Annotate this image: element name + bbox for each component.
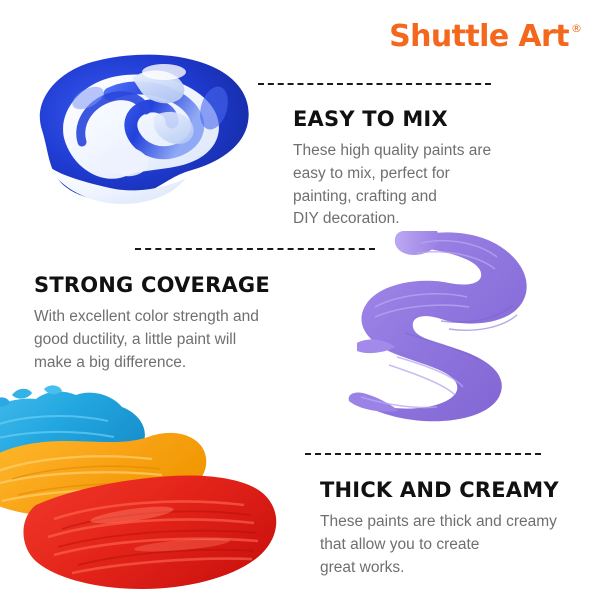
blue-white-paint-blob-image — [14, 38, 258, 220]
feature-title-easy-to-mix: EASY TO MIX — [293, 107, 553, 131]
feature-block-strong-coverage: STRONG COVERAGE With excellent color str… — [34, 273, 309, 374]
feature-title-strong-coverage: STRONG COVERAGE — [34, 273, 309, 297]
divider-dashed-3 — [305, 453, 541, 455]
purple-brushstroke-image — [345, 225, 575, 445]
feature-body-thick-and-creamy: These paints are thick and creamy that a… — [320, 511, 590, 579]
divider-dashed-1 — [258, 83, 491, 85]
brand-logo: Shuttle Art ® — [389, 22, 582, 52]
feature-block-thick-and-creamy: THICK AND CREAMY These paints are thick … — [320, 478, 590, 579]
tricolor-paint-smear-image — [0, 385, 292, 600]
feature-block-easy-to-mix: EASY TO MIX These high quality paints ar… — [293, 107, 553, 231]
divider-dashed-2 — [135, 248, 375, 250]
registered-trademark-icon: ® — [571, 23, 582, 34]
feature-body-easy-to-mix: These high quality paints are easy to mi… — [293, 140, 553, 231]
feature-body-strong-coverage: With excellent color strength and good d… — [34, 306, 309, 374]
brand-name: Shuttle Art — [389, 22, 569, 52]
infographic-poster: Shuttle Art ® — [0, 0, 600, 600]
feature-title-thick-and-creamy: THICK AND CREAMY — [320, 478, 590, 502]
